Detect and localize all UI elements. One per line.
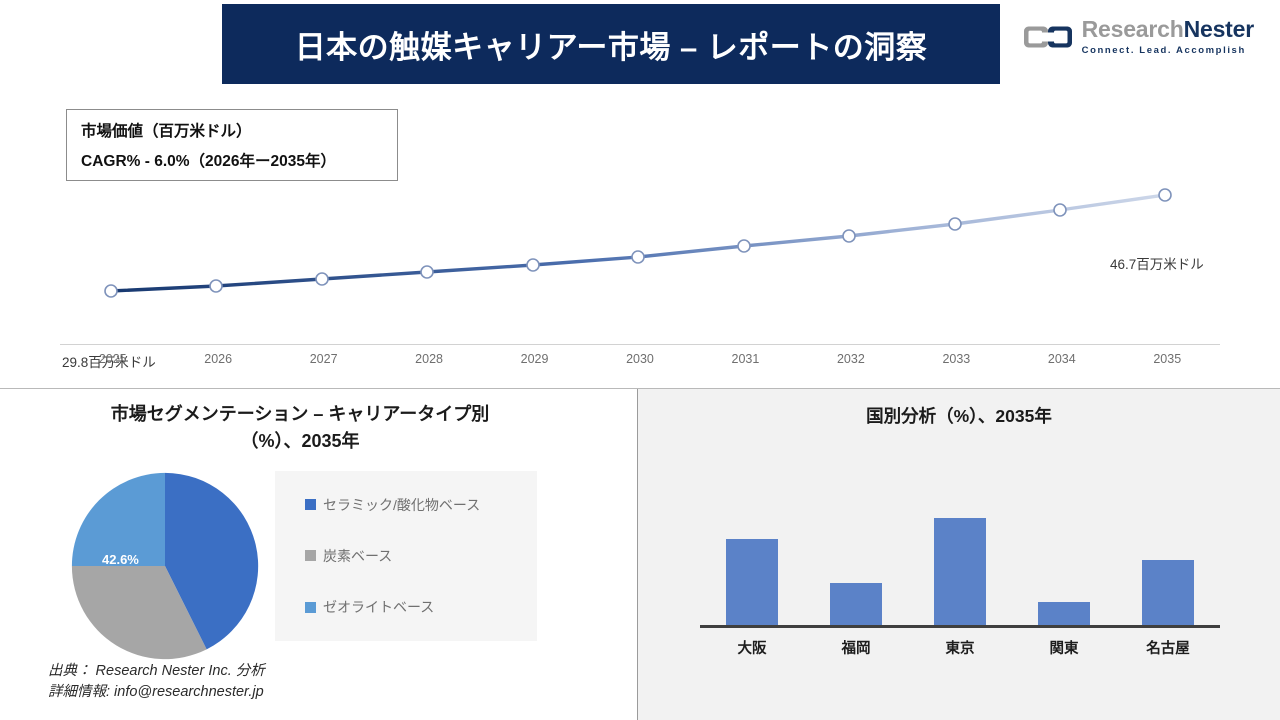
x-tick-2030: 2030: [587, 352, 692, 366]
bar-label-osaka: 大阪: [700, 637, 804, 658]
logo-text: ResearchNester Connect. Lead. Accomplish: [1082, 18, 1254, 56]
bar-fukuoka[interactable]: [830, 583, 882, 625]
pie-title-line-1: 市場セグメンテーション – キャリアータイプ別: [111, 404, 490, 424]
pie-slice-percent-label: 42.6%: [102, 552, 139, 567]
logo-wordmark: ResearchNester: [1082, 18, 1254, 41]
segmentation-pie-panel: 市場セグメンテーション – キャリアータイプ別 （%）、2035年 42.6% …: [0, 389, 638, 720]
pie-title-line-2: （%）、2035年: [0, 428, 600, 455]
bar-column-nagoya: [1116, 459, 1220, 625]
bar-chart-title: 国別分析（%）、2035年: [638, 403, 1280, 428]
legend-swatch-icon-zeolite: [305, 602, 316, 613]
x-tick-2027: 2027: [271, 352, 376, 366]
x-tick-2029: 2029: [482, 352, 587, 366]
source-note: 出典： Research Nester Inc. 分析 詳細情報: info@r…: [48, 661, 265, 703]
bar-label-fukuoka: 福岡: [804, 637, 908, 658]
bar-chart-plot: [700, 459, 1220, 625]
market-value-line-chart: 市場価値（百万米ドル） CAGR% - 6.0%（2026年ー2035年）: [0, 90, 1280, 389]
bar-nagoya[interactable]: [1142, 560, 1194, 625]
x-tick-2033: 2033: [904, 352, 1009, 366]
legend-label-ceramic: セラミック/酸化物ベース: [323, 495, 480, 515]
country-analysis-bar-panel: 国別分析（%）、2035年 大阪 福岡 東京 関東 名古屋: [638, 389, 1280, 720]
legend-label-zeolite: ゼオライトベース: [323, 597, 434, 617]
x-tick-2034: 2034: [1009, 352, 1114, 366]
page-header: 日本の触媒キャリアー市場 – レポートの洞察 ResearchNester Co…: [0, 0, 1280, 90]
bottom-section: 市場セグメンテーション – キャリアータイプ別 （%）、2035年 42.6% …: [0, 389, 1280, 720]
legend-item-ceramic[interactable]: セラミック/酸化物ベース: [305, 495, 537, 515]
bar-kanto[interactable]: [1038, 602, 1090, 625]
line-chart-x-axis: [60, 344, 1220, 345]
bar-column-fukuoka: [804, 459, 908, 625]
x-tick-2035: 2035: [1115, 352, 1220, 366]
bar-column-osaka: [700, 459, 804, 625]
legend-label-carbon: 炭素ベース: [323, 546, 392, 566]
title-band: 日本の触媒キャリアー市場 – レポートの洞察: [222, 4, 1000, 84]
bar-chart-baseline: [700, 625, 1220, 628]
legend-item-carbon[interactable]: 炭素ベース: [305, 546, 537, 566]
bar-chart-x-tick-labels: 大阪 福岡 東京 関東 名古屋: [700, 637, 1220, 658]
logo-word-research: Research: [1082, 16, 1184, 42]
source-line-1: 出典： Research Nester Inc. 分析: [48, 661, 265, 682]
logo-tagline: Connect. Lead. Accomplish: [1082, 46, 1254, 56]
pie-chart-legend: セラミック/酸化物ベース 炭素ベース ゼオライトベース: [275, 471, 537, 641]
x-tick-2026: 2026: [165, 352, 270, 366]
logo-word-nester: Nester: [1184, 16, 1254, 42]
bar-tokyo[interactable]: [934, 518, 986, 625]
bar-label-kanto: 関東: [1012, 637, 1116, 658]
pie-chart-title: 市場セグメンテーション – キャリアータイプ別 （%）、2035年: [0, 401, 600, 455]
brand-logo: ResearchNester Connect. Lead. Accomplish: [1024, 18, 1254, 56]
legend-swatch-icon-ceramic: [305, 499, 316, 510]
bar-label-nagoya: 名古屋: [1116, 637, 1220, 658]
legend-item-zeolite[interactable]: ゼオライトベース: [305, 597, 537, 617]
line-end-value-label: 46.7百万米ドル: [1110, 253, 1204, 273]
x-tick-2032: 2032: [798, 352, 903, 366]
bar-column-tokyo: [908, 459, 1012, 625]
source-line-2: 詳細情報: info@researchnester.jp: [48, 682, 265, 703]
bar-osaka[interactable]: [726, 539, 778, 625]
pie-chart-plot: [70, 471, 260, 666]
x-tick-2025: 2025: [60, 352, 165, 366]
bar-column-kanto: [1012, 459, 1116, 625]
legend-swatch-icon-carbon: [305, 550, 316, 561]
chain-link-logo-icon: [1024, 19, 1072, 55]
x-tick-2031: 2031: [693, 352, 798, 366]
line-chart-x-tick-labels: 2025 2026 2027 2028 2029 2030 2031 2032 …: [60, 352, 1220, 366]
bar-label-tokyo: 東京: [908, 637, 1012, 658]
page-title: 日本の触媒キャリアー市場 – レポートの洞察: [295, 22, 928, 67]
x-tick-2028: 2028: [376, 352, 481, 366]
